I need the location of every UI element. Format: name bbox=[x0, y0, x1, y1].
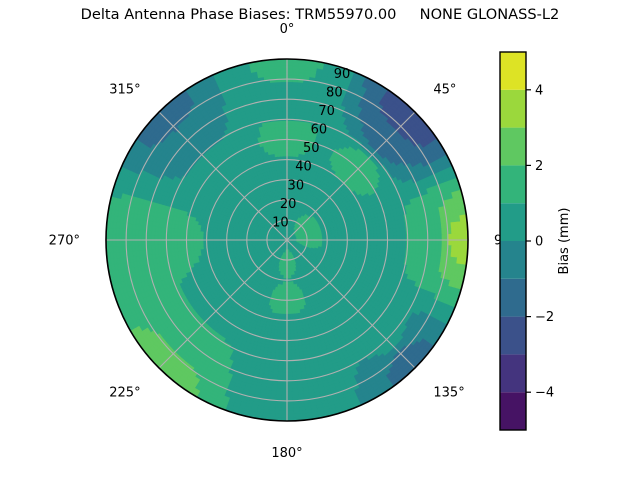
colorbar-segment bbox=[500, 52, 526, 90]
colorbar-tick-label: 4 bbox=[535, 83, 543, 98]
radial-tick-30: 30 bbox=[288, 178, 305, 193]
radial-tick-60: 60 bbox=[311, 123, 328, 138]
colorbar-tick-label: −4 bbox=[535, 386, 554, 401]
colorbar-segment bbox=[500, 354, 526, 392]
radial-tick-20: 20 bbox=[280, 197, 297, 212]
colorbar-swatches bbox=[500, 52, 526, 430]
theta-tick-315: 315° bbox=[109, 83, 140, 98]
polar-grid bbox=[106, 59, 468, 421]
colorbar-segment bbox=[500, 392, 526, 430]
theta-tick-270: 270° bbox=[49, 234, 80, 249]
colorbar-segment bbox=[500, 90, 526, 128]
theta-tick-135: 135° bbox=[433, 385, 464, 400]
colorbar-segment bbox=[500, 203, 526, 241]
colorbar-segment bbox=[500, 279, 526, 317]
radial-tick-70: 70 bbox=[318, 104, 335, 119]
colorbar-segment bbox=[500, 128, 526, 166]
theta-tick-225: 225° bbox=[109, 385, 140, 400]
colorbar-axis-label: Bias (mm) bbox=[557, 208, 572, 275]
colorbar-ticks: −4−2024 bbox=[526, 83, 554, 400]
figure-canvas: Delta Antenna Phase Biases: TRM55970.00 … bbox=[0, 0, 640, 480]
colorbar-segment bbox=[500, 317, 526, 355]
colorbar-tick-label: −2 bbox=[535, 310, 554, 325]
colorbar-tick-label: 0 bbox=[535, 235, 543, 250]
radial-tick-90: 90 bbox=[334, 67, 351, 82]
radial-tick-80: 80 bbox=[326, 85, 343, 100]
colorbar-tick-label: 2 bbox=[535, 159, 543, 174]
radial-tick-40: 40 bbox=[295, 160, 312, 175]
theta-tick-45: 45° bbox=[433, 83, 456, 98]
theta-tick-180: 180° bbox=[271, 446, 302, 461]
colorbar-segment bbox=[500, 165, 526, 203]
figure-title: Delta Antenna Phase Biases: TRM55970.00 … bbox=[0, 6, 640, 23]
theta-tick-0: 0° bbox=[280, 22, 295, 37]
radial-tick-10: 10 bbox=[272, 215, 289, 230]
colorbar: −4−2024 Bias (mm) bbox=[500, 52, 572, 430]
polar-plot-svg: 0°45°90°135°180°225°270°315° 10203040506… bbox=[0, 0, 640, 480]
radial-tick-50: 50 bbox=[303, 141, 320, 156]
colorbar-segment bbox=[500, 241, 526, 279]
